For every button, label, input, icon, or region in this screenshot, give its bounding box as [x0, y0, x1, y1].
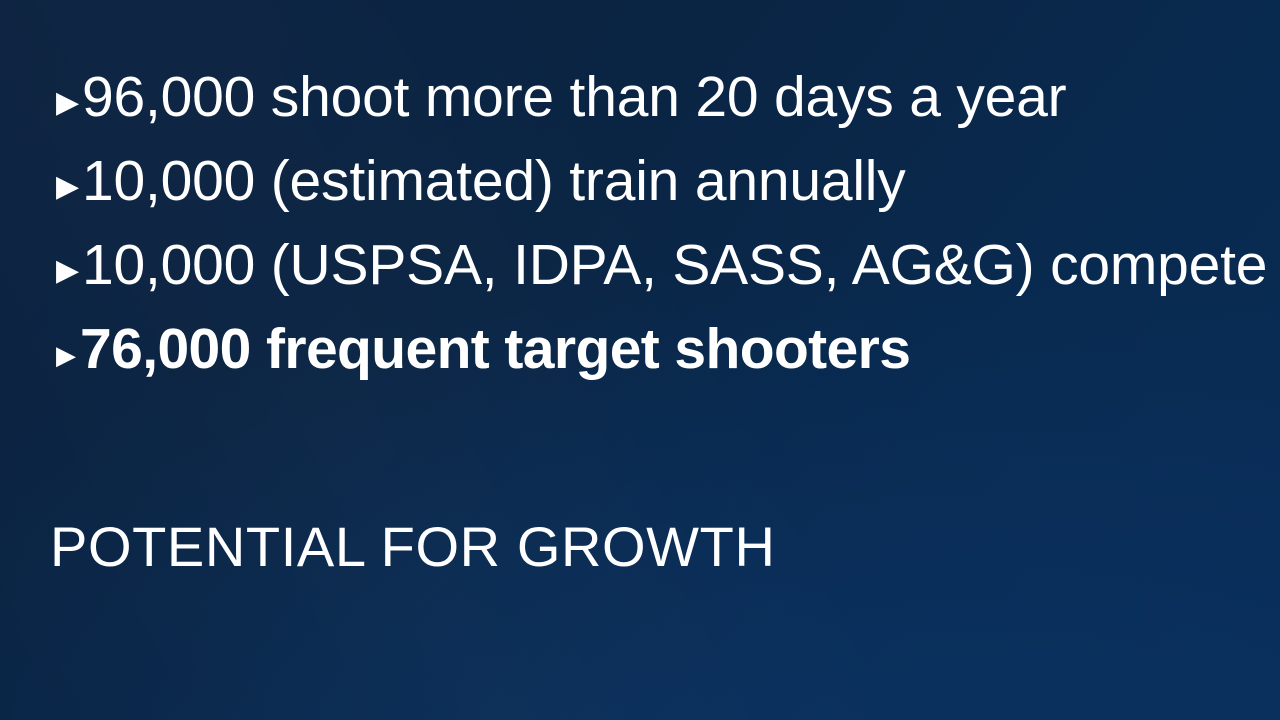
triangle-bullet-icon: ▶ — [56, 342, 80, 368]
list-item: ▶ 10,000 (estimated) train annually — [56, 152, 1246, 236]
triangle-bullet-icon: ▶ — [56, 172, 82, 202]
bullet-list: ▶ 96,000 shoot more than 20 days a year … — [56, 68, 1246, 404]
list-item: ▶ 10,000 (USPSA, IDPA, SASS, AG&G) compe… — [56, 236, 1246, 320]
list-item: ▶ 76,000 frequent target shooters — [56, 320, 1246, 404]
bullet-text: 10,000 (USPSA, IDPA, SASS, AG&G) compete — [82, 236, 1267, 294]
bullet-text: 96,000 shoot more than 20 days a year — [82, 68, 1066, 126]
bullet-text-emphasis: 76,000 frequent target shooters — [80, 320, 910, 378]
triangle-bullet-icon: ▶ — [56, 256, 82, 286]
triangle-bullet-icon: ▶ — [56, 88, 82, 118]
bullet-text: 10,000 (estimated) train annually — [82, 152, 906, 210]
list-item: ▶ 96,000 shoot more than 20 days a year — [56, 68, 1246, 152]
presentation-slide: ▶ 96,000 shoot more than 20 days a year … — [0, 0, 1280, 720]
slide-title: POTENTIAL FOR GROWTH — [50, 516, 1240, 579]
